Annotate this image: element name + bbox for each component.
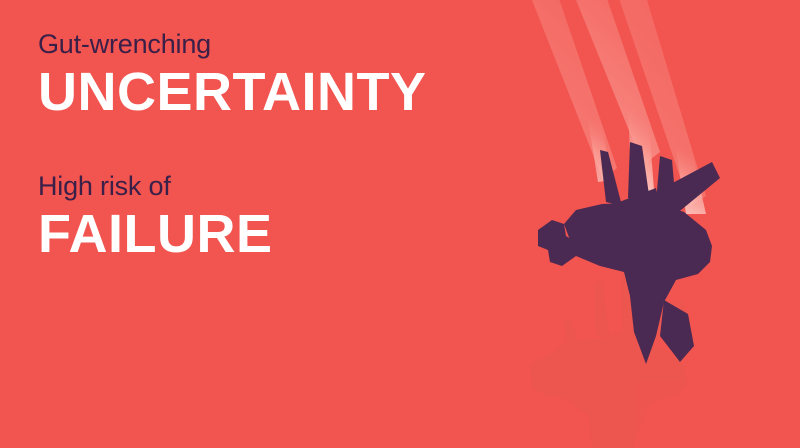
text-layer: Gut-wrenching UNCERTAINTY High risk of F… [0, 0, 800, 448]
kicker-uncertainty: Gut-wrenching [38, 28, 426, 60]
text-block-failure: High risk of FAILURE [38, 170, 273, 264]
headline-failure: FAILURE [38, 204, 273, 264]
headline-uncertainty: UNCERTAINTY [38, 62, 426, 122]
text-block-uncertainty: Gut-wrenching UNCERTAINTY [38, 28, 426, 122]
kicker-failure: High risk of [38, 170, 273, 202]
slide-canvas: Gut-wrenching UNCERTAINTY High risk of F… [0, 0, 800, 448]
